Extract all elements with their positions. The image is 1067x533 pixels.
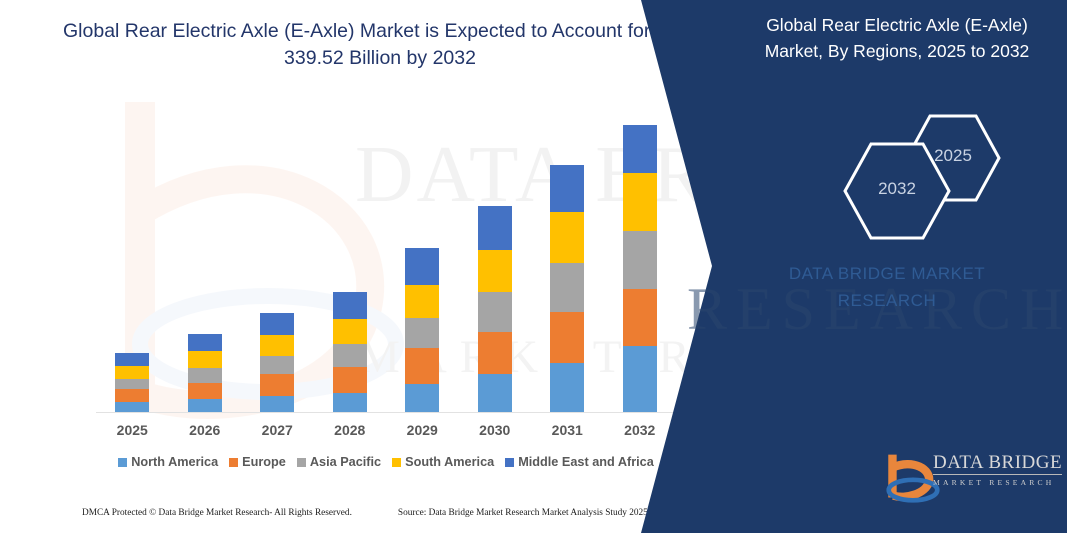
bar-segment[interactable] xyxy=(405,248,439,285)
bar-segment[interactable] xyxy=(188,383,222,400)
x-axis-labels: 20252026202720282029203020312032 xyxy=(96,420,676,446)
bar-segment[interactable] xyxy=(188,351,222,368)
bar-column-2028[interactable] xyxy=(314,110,387,413)
legend-swatch-icon xyxy=(229,458,238,467)
bar-segment[interactable] xyxy=(188,399,222,413)
bar-segment[interactable] xyxy=(550,212,584,262)
bar-segment[interactable] xyxy=(260,335,294,356)
bar-segment[interactable] xyxy=(333,367,367,393)
bar-segment[interactable] xyxy=(550,312,584,363)
bar-segment[interactable] xyxy=(550,363,584,413)
bar-segment[interactable] xyxy=(188,368,222,383)
legend-swatch-icon xyxy=(392,458,401,467)
legend-item[interactable]: South America xyxy=(392,455,494,469)
bar-segment[interactable] xyxy=(333,393,367,413)
footer: DMCA Protected © Data Bridge Market Rese… xyxy=(82,508,682,518)
bar-segment[interactable] xyxy=(405,285,439,318)
stacked-bar[interactable] xyxy=(188,334,222,413)
x-axis-line xyxy=(96,412,681,413)
bar-segment[interactable] xyxy=(260,396,294,413)
x-axis-label-2025: 2025 xyxy=(96,422,169,438)
stacked-bar[interactable] xyxy=(260,313,294,413)
x-axis-label-2026: 2026 xyxy=(169,422,242,438)
logo-tagline: MARKET RESEARCH xyxy=(933,478,1067,487)
legend-label: Europe xyxy=(242,455,286,469)
bar-segment[interactable] xyxy=(260,313,294,335)
bar-segment[interactable] xyxy=(115,389,149,402)
legend-label: North America xyxy=(131,455,218,469)
legend-swatch-icon xyxy=(297,458,306,467)
bar-segment[interactable] xyxy=(478,374,512,413)
bar-column-2027[interactable] xyxy=(241,110,314,413)
bar-segment[interactable] xyxy=(333,344,367,367)
bar-column-2031[interactable] xyxy=(531,110,604,413)
stacked-bar[interactable] xyxy=(478,206,512,413)
x-axis-label-2031: 2031 xyxy=(531,422,604,438)
right-panel-content: RESEARCH Global Rear Electric Axle (E-Ax… xyxy=(707,0,1067,533)
bar-segment[interactable] xyxy=(188,334,222,352)
bar-segment[interactable] xyxy=(405,318,439,348)
x-axis-label-2028: 2028 xyxy=(314,422,387,438)
right-panel-brand: DATA BRIDGE MARKET RESEARCH xyxy=(737,260,1037,314)
logo-name: DATA BRIDGE xyxy=(933,452,1062,475)
bar-segment[interactable] xyxy=(405,384,439,413)
stacked-bar-plot xyxy=(96,110,676,413)
legend-item[interactable]: Middle East and Africa xyxy=(505,455,654,469)
x-axis-label-2030: 2030 xyxy=(459,422,532,438)
bar-segment[interactable] xyxy=(115,379,149,389)
bar-segment[interactable] xyxy=(478,250,512,292)
brand-line-1: DATA BRIDGE MARKET xyxy=(737,260,1037,287)
source-note: Source: Data Bridge Market Research Mark… xyxy=(398,508,648,518)
bar-segment[interactable] xyxy=(623,289,657,346)
legend-swatch-icon xyxy=(505,458,514,467)
databridge-logo: DATA BRIDGE MARKET RESEARCH xyxy=(885,448,1067,504)
x-axis-label-2029: 2029 xyxy=(386,422,459,438)
stacked-bar[interactable] xyxy=(333,292,367,413)
bar-segment[interactable] xyxy=(478,332,512,375)
right-panel-title: Global Rear Electric Axle (E-Axle) Marke… xyxy=(747,12,1047,64)
bar-segment[interactable] xyxy=(115,353,149,366)
chart-legend: North AmericaEuropeAsia PacificSouth Ame… xyxy=(96,455,676,469)
legend-item[interactable]: Europe xyxy=(229,455,286,469)
legend-item[interactable]: North America xyxy=(118,455,218,469)
bar-segment[interactable] xyxy=(333,319,367,344)
bar-column-2032[interactable] xyxy=(604,110,677,413)
bar-segment[interactable] xyxy=(623,231,657,288)
chart-title: Global Rear Electric Axle (E-Axle) Marke… xyxy=(60,18,700,72)
bar-segment[interactable] xyxy=(260,374,294,396)
bar-column-2025[interactable] xyxy=(96,110,169,413)
stacked-bar[interactable] xyxy=(115,353,149,413)
legend-label: South America xyxy=(405,455,494,469)
bar-segment[interactable] xyxy=(478,206,512,250)
stacked-bar[interactable] xyxy=(550,165,584,413)
legend-label: Middle East and Africa xyxy=(518,455,654,469)
bar-segment[interactable] xyxy=(333,292,367,319)
dmca-notice: DMCA Protected © Data Bridge Market Rese… xyxy=(82,508,352,518)
bar-segment[interactable] xyxy=(115,366,149,379)
brand-line-2: RESEARCH xyxy=(737,287,1037,314)
hexagon-2032-label: 2032 xyxy=(841,179,953,199)
bar-segment[interactable] xyxy=(550,263,584,312)
bar-segment[interactable] xyxy=(405,348,439,384)
bar-segment[interactable] xyxy=(623,173,657,232)
legend-swatch-icon xyxy=(118,458,127,467)
bar-column-2030[interactable] xyxy=(459,110,532,413)
legend-item[interactable]: Asia Pacific xyxy=(297,455,381,469)
chart-panel: DATA BRIDGE MARKET RESEARCH Global Rear … xyxy=(0,0,760,533)
legend-label: Asia Pacific xyxy=(310,455,381,469)
x-axis-label-2032: 2032 xyxy=(604,422,677,438)
x-axis-label-2027: 2027 xyxy=(241,422,314,438)
databridge-logo-text: DATA BRIDGE MARKET RESEARCH xyxy=(933,452,1067,487)
stacked-bar[interactable] xyxy=(623,125,657,413)
stacked-bar[interactable] xyxy=(405,248,439,413)
bar-segment[interactable] xyxy=(260,356,294,375)
bar-segment[interactable] xyxy=(623,346,657,413)
hexagon-2032: 2032 xyxy=(841,140,953,242)
bar-segment[interactable] xyxy=(623,125,657,173)
bar-segment[interactable] xyxy=(478,292,512,332)
bar-column-2026[interactable] xyxy=(169,110,242,413)
bar-segment[interactable] xyxy=(550,165,584,212)
bar-column-2029[interactable] xyxy=(386,110,459,413)
